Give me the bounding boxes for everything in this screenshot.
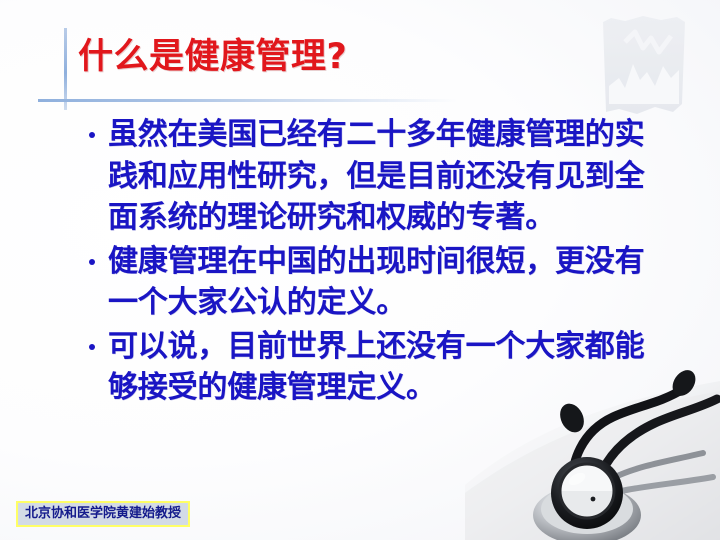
bullet-text: 虽然在美国已经有二十多年健康管理的实践和应用性研究，但是目前还没有见到全面系统的… bbox=[108, 117, 644, 235]
bullet-text: 健康管理在中国的出现时间很短，更没有一个大家公认的定义。 bbox=[108, 244, 644, 321]
footer-attribution: 北京协和医学院黄建始教授 bbox=[16, 501, 190, 527]
presentation-slide: 什么是健康管理? 虽然在美国已经有二十多年健康管理的实践和应用性研究，但是目前还… bbox=[0, 0, 720, 540]
blue-horizontal-rule bbox=[38, 99, 458, 102]
bullet-item: 虽然在美国已经有二十多年健康管理的实践和应用性研究，但是目前还没有见到全面系统的… bbox=[88, 114, 674, 239]
slide-body: 虽然在美国已经有二十多年健康管理的实践和应用性研究，但是目前还没有见到全面系统的… bbox=[88, 114, 674, 411]
bullet-item: 可以说，目前世界上还没有一个大家都能够接受的健康管理定义。 bbox=[88, 326, 674, 409]
bullet-dot-icon bbox=[89, 344, 95, 350]
bullet-item: 健康管理在中国的出现时间很短，更没有一个大家公认的定义。 bbox=[88, 241, 674, 324]
ecg-mountain-watermark-icon bbox=[585, 8, 705, 128]
bullet-dot-icon bbox=[89, 132, 95, 138]
blue-vertical-rule bbox=[64, 28, 67, 110]
slide-title: 什么是健康管理? bbox=[78, 34, 347, 80]
bullet-dot-icon bbox=[89, 259, 95, 265]
bullet-text: 可以说，目前世界上还没有一个大家都能够接受的健康管理定义。 bbox=[108, 329, 644, 406]
